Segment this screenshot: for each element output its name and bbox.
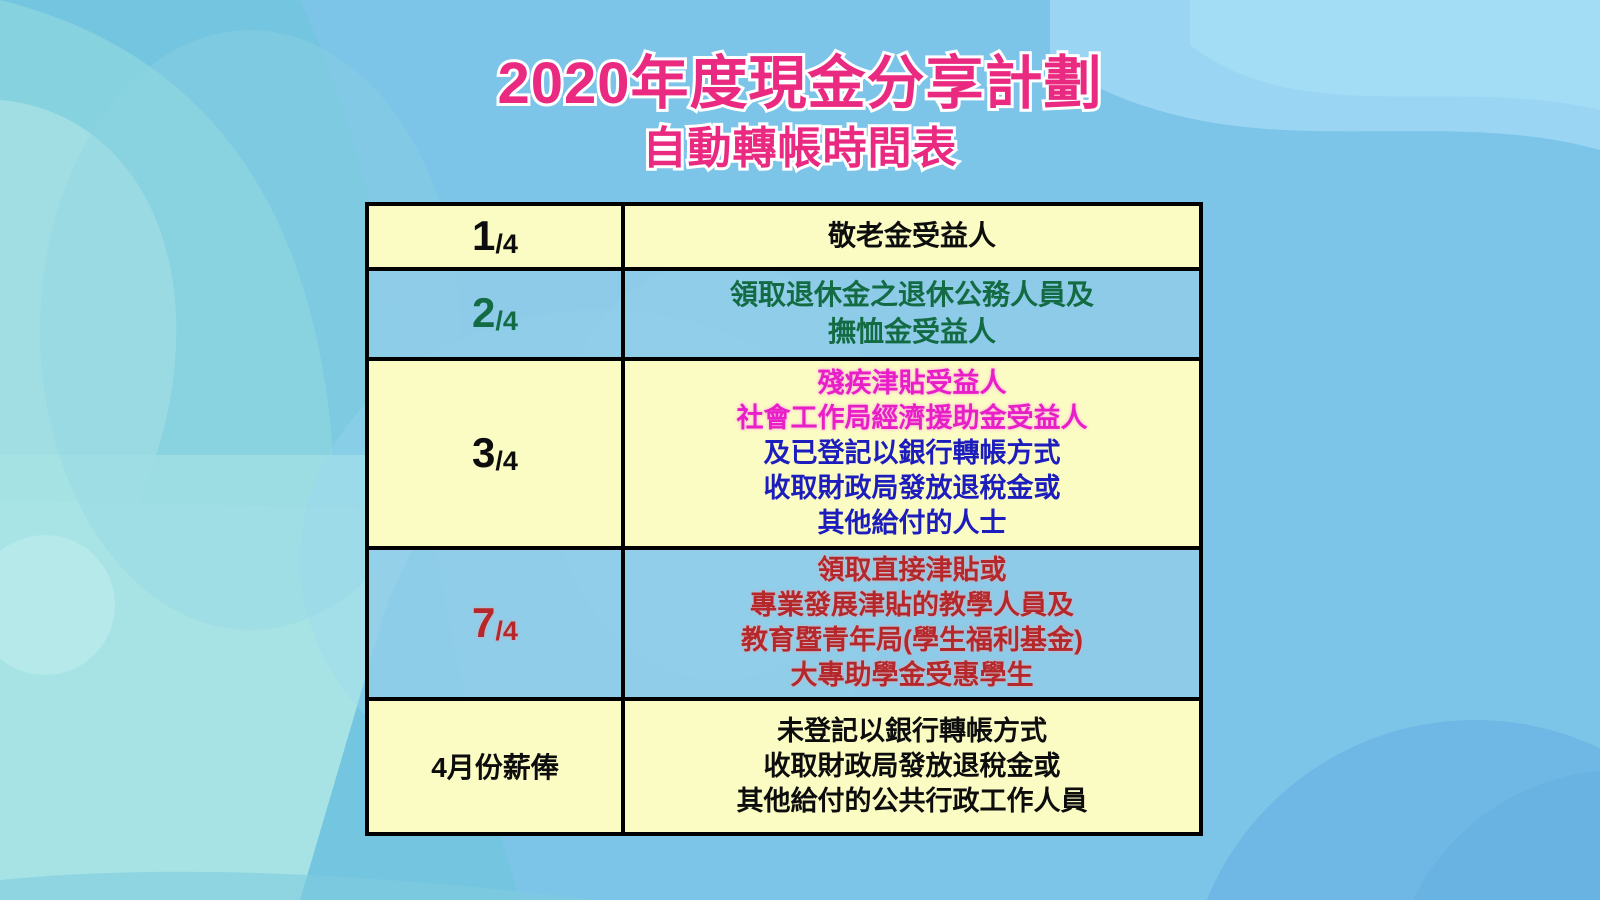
schedule-date-fraction: 7/4 [472,602,518,645]
description-line: 及已登記以銀行轉帳方式 [764,436,1061,471]
schedule-date-cell: 2/4 [369,271,625,357]
schedule-date-fraction: 3/4 [472,432,518,475]
schedule-date-cell: 3/4 [369,361,625,546]
table-row: 1/4敬老金受益人 [369,206,1199,271]
description-line: 其他給付的人士 [818,506,1007,541]
table-row: 2/4領取退休金之退休公務人員及撫恤金受益人 [369,271,1199,361]
description-line: 未登記以銀行轉帳方式 [777,714,1047,749]
description-line: 教育暨青年局(學生福利基金) [741,623,1083,658]
date-numerator: 3 [472,429,495,476]
schedule-description-cell: 未登記以銀行轉帳方式收取財政局發放退稅金或其他給付的公共行政工作人員 [625,701,1199,832]
description-line: 收取財政局發放退稅金或 [764,749,1061,784]
schedule-description-cell: 領取退休金之退休公務人員及撫恤金受益人 [625,271,1199,357]
date-numerator: 7 [472,599,495,646]
schedule-description-cell: 敬老金受益人 [625,206,1199,267]
date-denominator: /4 [495,446,518,476]
description-line: 領取退休金之退休公務人員及 [730,277,1094,313]
schedule-date-cell: 1/4 [369,206,625,267]
description-line: 收取財政局發放退稅金或 [764,471,1061,506]
page-subtitle: 自動轉帳時間表 [0,113,1600,171]
title-block: 2020年度現金分享計劃 自動轉帳時間表 [0,0,1600,171]
schedule-date-fraction: 1/4 [472,215,518,258]
schedule-description-cell: 殘疾津貼受益人社會工作局經濟援助金受益人及已登記以銀行轉帳方式收取財政局發放退稅… [625,361,1199,546]
description-line: 專業發展津貼的教學人員及 [750,588,1074,623]
schedule-description-cell: 領取直接津貼或專業發展津貼的教學人員及教育暨青年局(學生福利基金)大專助學金受惠… [625,550,1199,697]
transfer-schedule-table: 1/4敬老金受益人2/4領取退休金之退休公務人員及撫恤金受益人3/4殘疾津貼受益… [365,202,1203,836]
date-denominator: /4 [495,616,518,646]
date-denominator: /4 [495,229,518,259]
date-numerator: 1 [472,212,495,259]
description-line: 殘疾津貼受益人 [818,366,1007,401]
table-row: 3/4殘疾津貼受益人社會工作局經濟援助金受益人及已登記以銀行轉帳方式收取財政局發… [369,361,1199,550]
description-line: 領取直接津貼或 [818,553,1007,588]
description-line: 社會工作局經濟援助金受益人 [737,401,1088,436]
page-title: 2020年度現金分享計劃 [0,0,1600,113]
description-line: 大專助學金受惠學生 [791,658,1034,693]
schedule-date-cell: 7/4 [369,550,625,697]
date-denominator: /4 [495,306,518,336]
schedule-date-label: 4月份薪俸 [431,746,559,786]
description-line: 其他給付的公共行政工作人員 [737,784,1088,819]
date-numerator: 2 [472,289,495,336]
schedule-date-cell: 4月份薪俸 [369,701,625,832]
table-row: 4月份薪俸未登記以銀行轉帳方式收取財政局發放退稅金或其他給付的公共行政工作人員 [369,701,1199,832]
schedule-date-fraction: 2/4 [472,292,518,335]
description-line: 撫恤金受益人 [828,314,996,350]
description-line: 敬老金受益人 [828,218,996,254]
table-row: 7/4領取直接津貼或專業發展津貼的教學人員及教育暨青年局(學生福利基金)大專助學… [369,550,1199,701]
